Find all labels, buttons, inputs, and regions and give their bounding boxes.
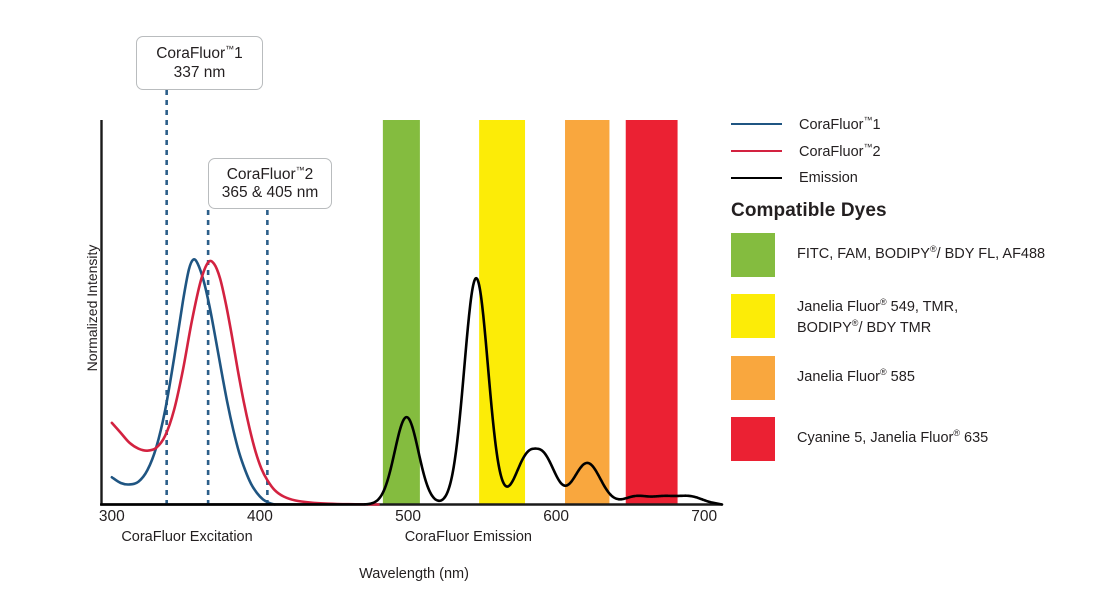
- compatible-dyes-list: FITC, FAM, BODIPY®/ BDY FL, AF488Janelia…: [731, 233, 1103, 478]
- series-legend: CoraFluor™1CoraFluor™2Emission: [731, 110, 1091, 191]
- trademark-icon: ™: [863, 142, 872, 152]
- x-axis-sublabel-emission: CoraFluor Emission: [0, 529, 1110, 545]
- trademark-icon: ™: [296, 165, 305, 175]
- green-band: [383, 120, 420, 505]
- dye-label-line1: Cyanine 5, Janelia Fluor® 635: [797, 427, 988, 448]
- dye-label: Janelia Fluor® 585: [797, 356, 915, 387]
- callout-corafluor2: CoraFluor™2 365 & 405 nm: [208, 158, 332, 209]
- dye-label-line1: FITC, FAM, BODIPY®/ BDY FL, AF488: [797, 243, 1045, 264]
- legend-swatch-line: [731, 177, 782, 179]
- legend-item-emission[interactable]: Emission: [731, 164, 1091, 191]
- curve-corafluor1: [112, 259, 275, 504]
- emission-band-group: [383, 120, 678, 505]
- trademark-icon: ™: [863, 115, 872, 125]
- registered-icon: ®: [880, 297, 887, 307]
- dye-row: FITC, FAM, BODIPY®/ BDY FL, AF488: [731, 233, 1103, 277]
- registered-icon: ®: [953, 428, 960, 438]
- dye-row: Janelia Fluor® 549, TMR,BODIPY®/ BDY TMR: [731, 294, 1103, 339]
- chart-page: CoraFluor™1 337 nm CoraFluor™2 365 & 405…: [0, 0, 1110, 612]
- legend-item-corafluor1[interactable]: CoraFluor™1: [731, 110, 1091, 137]
- x-axis-title: Wavelength (nm): [0, 566, 828, 582]
- compatible-dyes-heading: Compatible Dyes: [731, 200, 887, 222]
- registered-icon: ®: [930, 244, 937, 254]
- dye-color-swatch: [731, 417, 775, 461]
- trademark-icon: ™: [225, 44, 234, 54]
- legend-swatch-line: [731, 123, 782, 125]
- dye-label-line1: Janelia Fluor® 549, TMR,: [797, 296, 958, 317]
- y-axis-title: Normalized Intensity: [84, 208, 100, 408]
- dye-label: Janelia Fluor® 549, TMR,BODIPY®/ BDY TMR: [797, 294, 958, 339]
- x-tick-500: 500: [378, 508, 438, 526]
- registered-icon: ®: [852, 318, 859, 328]
- callout-corafluor1: CoraFluor™1 337 nm: [136, 36, 263, 90]
- x-tick-700: 700: [674, 508, 734, 526]
- dye-row: Cyanine 5, Janelia Fluor® 635: [731, 417, 1103, 461]
- callout2-line2: 365 & 405 nm: [222, 184, 319, 202]
- legend-item-label: CoraFluor™2: [799, 142, 881, 160]
- legend-item-label: Emission: [799, 170, 858, 186]
- dye-label: Cyanine 5, Janelia Fluor® 635: [797, 417, 988, 448]
- callout1-line2: 337 nm: [174, 64, 226, 82]
- dye-label-line2: BODIPY®/ BDY TMR: [797, 317, 958, 338]
- dye-color-swatch: [731, 356, 775, 400]
- legend-swatch-line: [731, 150, 782, 152]
- orange-band: [565, 120, 609, 505]
- dye-label: FITC, FAM, BODIPY®/ BDY FL, AF488: [797, 233, 1045, 264]
- dye-color-swatch: [731, 294, 775, 338]
- legend-item-corafluor2[interactable]: CoraFluor™2: [731, 137, 1091, 164]
- callout1-line1: CoraFluor™1: [156, 44, 243, 63]
- dye-color-swatch: [731, 233, 775, 277]
- callout2-line1: CoraFluor™2: [227, 165, 314, 184]
- x-tick-600: 600: [526, 508, 586, 526]
- yellow-band: [479, 120, 525, 505]
- dye-label-line1: Janelia Fluor® 585: [797, 366, 915, 387]
- x-tick-300: 300: [82, 508, 142, 526]
- legend-item-label: CoraFluor™1: [799, 115, 881, 133]
- x-tick-400: 400: [230, 508, 290, 526]
- registered-icon: ®: [880, 367, 887, 377]
- dye-row: Janelia Fluor® 585: [731, 356, 1103, 400]
- red-band: [626, 120, 678, 505]
